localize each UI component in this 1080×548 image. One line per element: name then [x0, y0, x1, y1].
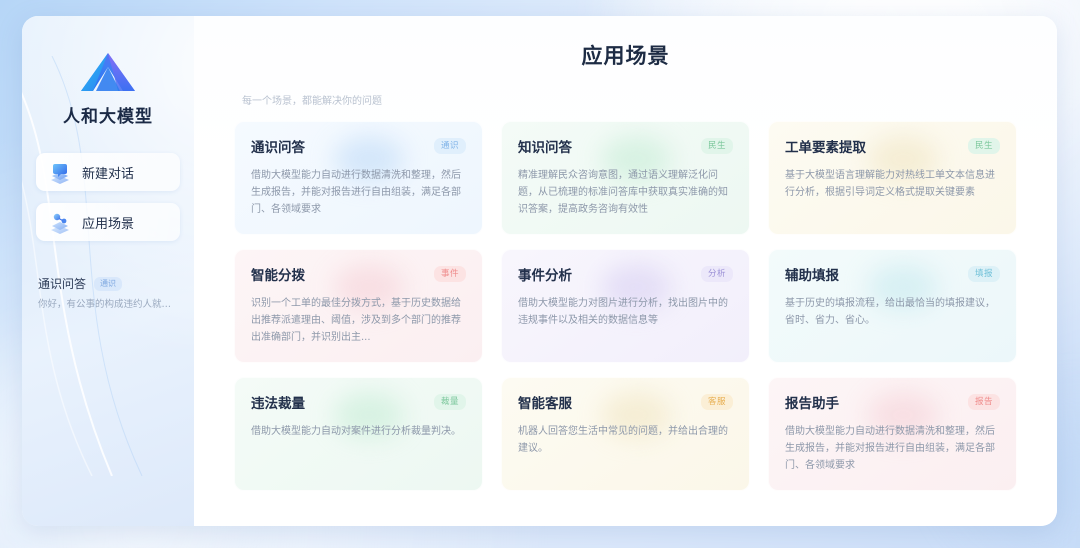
app-window: 人和大模型 新建对话 — [22, 16, 1057, 526]
card-header: 通识问答 通识 — [251, 136, 466, 156]
history-item-tag: 通识 — [94, 277, 122, 291]
card-description: 借助大模型能力自动对案件进行分析裁量判决。 — [251, 423, 466, 440]
card-title: 通识问答 — [251, 136, 305, 156]
sidebar-item-scenes[interactable]: 应用场景 — [36, 203, 180, 241]
card-description: 精准理解民众咨询意图，通过语义理解泛化问题，从已梳理的标准问答库中获取真实准确的… — [518, 167, 733, 218]
sidebar-item-new-chat[interactable]: 新建对话 — [36, 153, 180, 191]
conversation-history: 通识问答 通识 你好，有公事的构成违约人就、给分析... — [36, 275, 180, 312]
sidebar-item-new-chat-label: 新建对话 — [82, 163, 134, 182]
logo-text: 人和大模型 — [36, 102, 180, 127]
card-description: 机器人回答您生活中常见的问题，并给出合理的建议。 — [518, 423, 733, 457]
history-item-title: 通识问答 — [38, 275, 86, 292]
logo-block: 人和大模型 — [36, 34, 180, 127]
card-tag: 民生 — [968, 138, 1000, 154]
page-header: 应用场景 — [234, 40, 1017, 70]
main-content: 应用场景 每一个场景，都能解决你的问题 通识问答 通识 借助大模型能力自动进行数… — [194, 16, 1057, 526]
card-header: 辅助填报 填报 — [785, 264, 1000, 284]
card-description: 识别一个工单的最佳分拨方式，基于历史数据给出推荐派遣理由、阈值，涉及到多个部门的… — [251, 295, 466, 346]
card-tag: 裁量 — [434, 394, 466, 410]
scenario-card[interactable]: 智能分拨 事件 识别一个工单的最佳分拨方式，基于历史数据给出推荐派遣理由、阈值，… — [234, 249, 483, 363]
card-description: 借助大模型能力对图片进行分析，找出图片中的违规事件以及相关的数据信息等 — [518, 295, 733, 329]
page-subtitle: 每一个场景，都能解决你的问题 — [234, 92, 1017, 107]
card-description: 借助大模型能力自动进行数据清洗和整理，然后生成报告，并能对报告进行自由组装，满足… — [251, 167, 466, 218]
sidebar: 人和大模型 新建对话 — [22, 16, 194, 526]
card-tag: 分析 — [701, 266, 733, 282]
scenario-card[interactable]: 智能客服 客服 机器人回答您生活中常见的问题，并给出合理的建议。 — [501, 377, 750, 491]
card-header: 知识问答 民生 — [518, 136, 733, 156]
scenes-icon — [48, 210, 72, 234]
card-title: 辅助填报 — [785, 264, 839, 284]
sidebar-nav: 新建对话 — [36, 153, 180, 241]
sidebar-item-scenes-label: 应用场景 — [82, 213, 134, 232]
card-title: 知识问答 — [518, 136, 572, 156]
card-title: 智能客服 — [518, 392, 572, 412]
card-title: 智能分拨 — [251, 264, 305, 284]
card-tag: 通识 — [434, 138, 466, 154]
triangle-logo-icon — [77, 50, 139, 94]
card-header: 违法裁量 裁量 — [251, 392, 466, 412]
card-header: 工单要素提取 民生 — [785, 136, 1000, 156]
card-header: 智能分拨 事件 — [251, 264, 466, 284]
card-title: 违法裁量 — [251, 392, 305, 412]
card-description: 基于大模型语言理解能力对热线工单文本信息进行分析，根据引导词定义格式提取关键要素 — [785, 167, 1000, 201]
card-title: 事件分析 — [518, 264, 572, 284]
scenario-card[interactable]: 辅助填报 填报 基于历史的填报流程，给出最恰当的填报建议，省时、省力、省心。 — [768, 249, 1017, 363]
history-item[interactable]: 通识问答 通识 — [38, 275, 178, 292]
card-description: 基于历史的填报流程，给出最恰当的填报建议，省时、省力、省心。 — [785, 295, 1000, 329]
card-tag: 客服 — [701, 394, 733, 410]
card-header: 事件分析 分析 — [518, 264, 733, 284]
scenario-card[interactable]: 工单要素提取 民生 基于大模型语言理解能力对热线工单文本信息进行分析，根据引导词… — [768, 121, 1017, 235]
scenario-card-grid: 通识问答 通识 借助大模型能力自动进行数据清洗和整理，然后生成报告，并能对报告进… — [234, 121, 1017, 491]
page-title: 应用场景 — [234, 40, 1017, 70]
scenario-card[interactable]: 事件分析 分析 借助大模型能力对图片进行分析，找出图片中的违规事件以及相关的数据… — [501, 249, 750, 363]
scenario-card[interactable]: 报告助手 报告 借助大模型能力自动进行数据清洗和整理，然后生成报告，并能对报告进… — [768, 377, 1017, 491]
card-tag: 事件 — [434, 266, 466, 282]
card-tag: 报告 — [968, 394, 1000, 410]
scenario-card[interactable]: 通识问答 通识 借助大模型能力自动进行数据清洗和整理，然后生成报告，并能对报告进… — [234, 121, 483, 235]
card-header: 报告助手 报告 — [785, 392, 1000, 412]
scenario-card[interactable]: 违法裁量 裁量 借助大模型能力自动对案件进行分析裁量判决。 — [234, 377, 483, 491]
card-title: 报告助手 — [785, 392, 839, 412]
card-tag: 民生 — [701, 138, 733, 154]
scenario-card[interactable]: 知识问答 民生 精准理解民众咨询意图，通过语义理解泛化问题，从已梳理的标准问答库… — [501, 121, 750, 235]
card-description: 借助大模型能力自动进行数据清洗和整理，然后生成报告，并能对报告进行自由组装，满足… — [785, 423, 1000, 474]
card-tag: 填报 — [968, 266, 1000, 282]
card-header: 智能客服 客服 — [518, 392, 733, 412]
history-item-preview: 你好，有公事的构成违约人就、给分析... — [38, 298, 178, 312]
new-chat-icon — [48, 160, 72, 184]
card-title: 工单要素提取 — [785, 136, 866, 156]
